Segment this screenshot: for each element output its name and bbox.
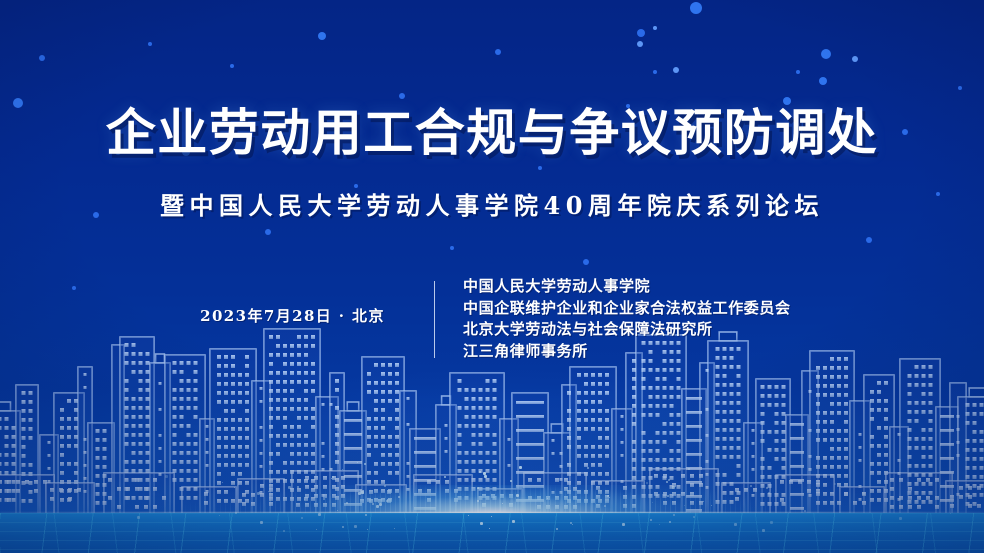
organizer-item: 江三角律师事务所 bbox=[463, 341, 791, 363]
date-location: 2023年7月28日 · 北京 bbox=[185, 305, 400, 326]
organizer-item: 中国人民大学劳动人事学院 bbox=[463, 276, 791, 298]
page-title: 企业劳动用工合规与争议预防调处 bbox=[0, 103, 984, 162]
page-subtitle: 暨中国人民大学劳动人事学院40周年院庆系列论坛 bbox=[0, 186, 984, 221]
vertical-divider bbox=[434, 281, 435, 358]
organizer-item: 中国企联维护企业和企业家合法权益工作委员会 bbox=[463, 298, 791, 320]
conference-poster: 企业劳动用工合规与争议预防调处 暨中国人民大学劳动人事学院40周年院庆系列论坛 … bbox=[0, 0, 984, 553]
organizer-item: 北京大学劳动法与社会保障法研究所 bbox=[463, 319, 791, 341]
organizer-list: 中国人民大学劳动人事学院中国企联维护企业和企业家合法权益工作委员会北京大学劳动法… bbox=[463, 276, 791, 362]
poster-content: 企业劳动用工合规与争议预防调处 暨中国人民大学劳动人事学院40周年院庆系列论坛 … bbox=[0, 0, 984, 553]
